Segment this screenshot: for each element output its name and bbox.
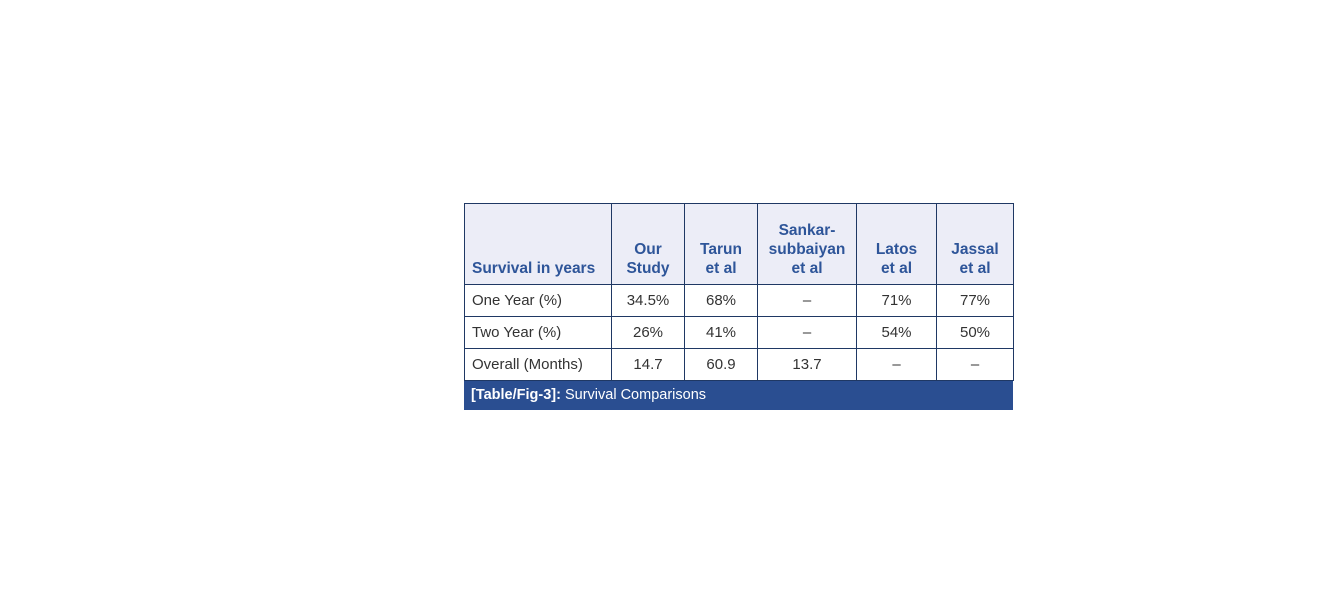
column-header-sankarsubbaiyan-et-al: Sankar-subbaiyanet al xyxy=(758,204,857,285)
cell-tarun: 68% xyxy=(685,285,758,317)
cell-latos: 71% xyxy=(857,285,937,317)
cell-our-study: 14.7 xyxy=(612,349,685,381)
column-header-line3: et al xyxy=(791,260,822,277)
cell-tarun: 60.9 xyxy=(685,349,758,381)
table-header: Survival in years OurStudy Tarunet al Sa… xyxy=(465,204,1014,285)
column-header-label: Survival in years xyxy=(472,260,595,277)
row-label: Two Year (%) xyxy=(465,317,612,349)
table-row: Two Year (%) 26% 41% – 54% 50% xyxy=(465,317,1014,349)
column-header-line2: et al xyxy=(959,260,990,277)
column-header-line2: et al xyxy=(881,260,912,277)
cell-sankarsubbaiyan: – xyxy=(758,317,857,349)
cell-latos: 54% xyxy=(857,317,937,349)
column-header-survival-in-years: Survival in years xyxy=(465,204,612,285)
figure-caption-tag: [Table/Fig-3]: xyxy=(471,387,565,403)
cell-tarun: 41% xyxy=(685,317,758,349)
column-header-line1: Tarun xyxy=(700,241,742,258)
survival-comparisons-table: Survival in years OurStudy Tarunet al Sa… xyxy=(464,203,1014,381)
column-header-line1: Jassal xyxy=(951,241,998,258)
cell-latos: – xyxy=(857,349,937,381)
cell-jassal: 50% xyxy=(937,317,1014,349)
figure-caption-text: Survival Comparisons xyxy=(565,387,706,403)
figure-caption-bar: [Table/Fig-3]: Survival Comparisons xyxy=(464,381,1013,410)
column-header-tarun-et-al: Tarunet al xyxy=(685,204,758,285)
column-header-line1: Sankar- xyxy=(779,222,836,239)
column-header-latos-et-al: Latoset al xyxy=(857,204,937,285)
table-row: Overall (Months) 14.7 60.9 13.7 – – xyxy=(465,349,1014,381)
cell-sankarsubbaiyan: – xyxy=(758,285,857,317)
column-header-line1: Our xyxy=(634,241,662,258)
cell-jassal: – xyxy=(937,349,1014,381)
row-label: One Year (%) xyxy=(465,285,612,317)
column-header-jassal-et-al: Jassalet al xyxy=(937,204,1014,285)
row-label: Overall (Months) xyxy=(465,349,612,381)
table-header-row: Survival in years OurStudy Tarunet al Sa… xyxy=(465,204,1014,285)
column-header-line2: et al xyxy=(705,260,736,277)
column-header-our-study: OurStudy xyxy=(612,204,685,285)
table-row: One Year (%) 34.5% 68% – 71% 77% xyxy=(465,285,1014,317)
cell-our-study: 34.5% xyxy=(612,285,685,317)
cell-sankarsubbaiyan: 13.7 xyxy=(758,349,857,381)
column-header-line1: Latos xyxy=(876,241,917,258)
table-body: One Year (%) 34.5% 68% – 71% 77% Two Yea… xyxy=(465,285,1014,381)
survival-comparisons-figure: Survival in years OurStudy Tarunet al Sa… xyxy=(464,203,1013,410)
cell-our-study: 26% xyxy=(612,317,685,349)
column-header-line2: Study xyxy=(626,260,669,277)
column-header-line2: subbaiyan xyxy=(769,241,846,258)
cell-jassal: 77% xyxy=(937,285,1014,317)
